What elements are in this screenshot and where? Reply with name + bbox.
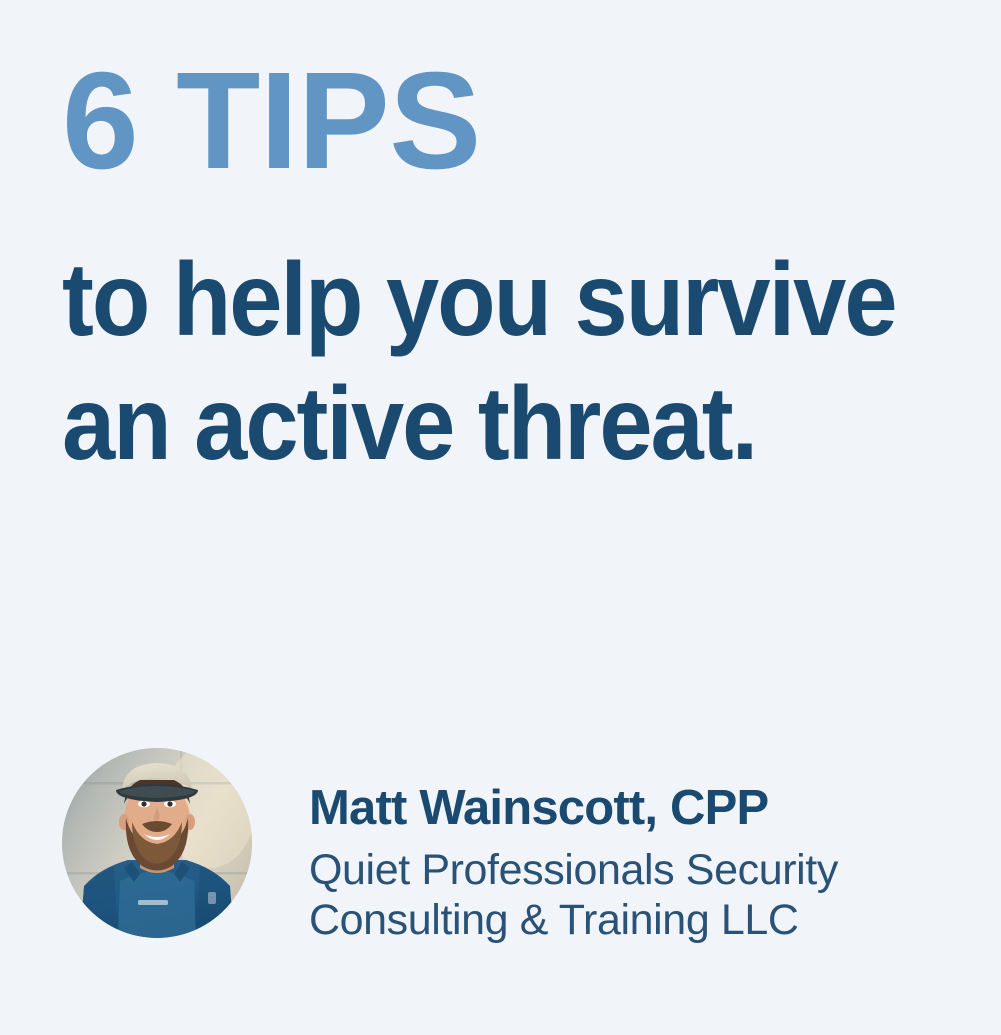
headline-line-1: to help you survive	[62, 238, 890, 362]
organization-name-line-1: Quiet Professionals Security	[309, 845, 838, 895]
avatar	[62, 748, 252, 938]
headline-line-2: an active threat.	[62, 362, 890, 486]
person-photo-icon	[62, 748, 252, 938]
attribution-text: Matt Wainscott, CPP Quiet Professionals …	[309, 748, 838, 945]
kicker-text: 6 TIPS	[62, 52, 481, 190]
organization-name-line-2: Consulting & Training LLC	[309, 895, 838, 945]
organization-name: Quiet Professionals Security Consulting …	[309, 845, 838, 945]
attribution-block: Matt Wainscott, CPP Quiet Professionals …	[62, 748, 942, 945]
headline: to help you survive an active threat.	[62, 238, 962, 486]
person-name: Matt Wainscott, CPP	[309, 780, 838, 836]
promo-card: 6 TIPS to help you survive an active thr…	[0, 0, 1001, 1035]
